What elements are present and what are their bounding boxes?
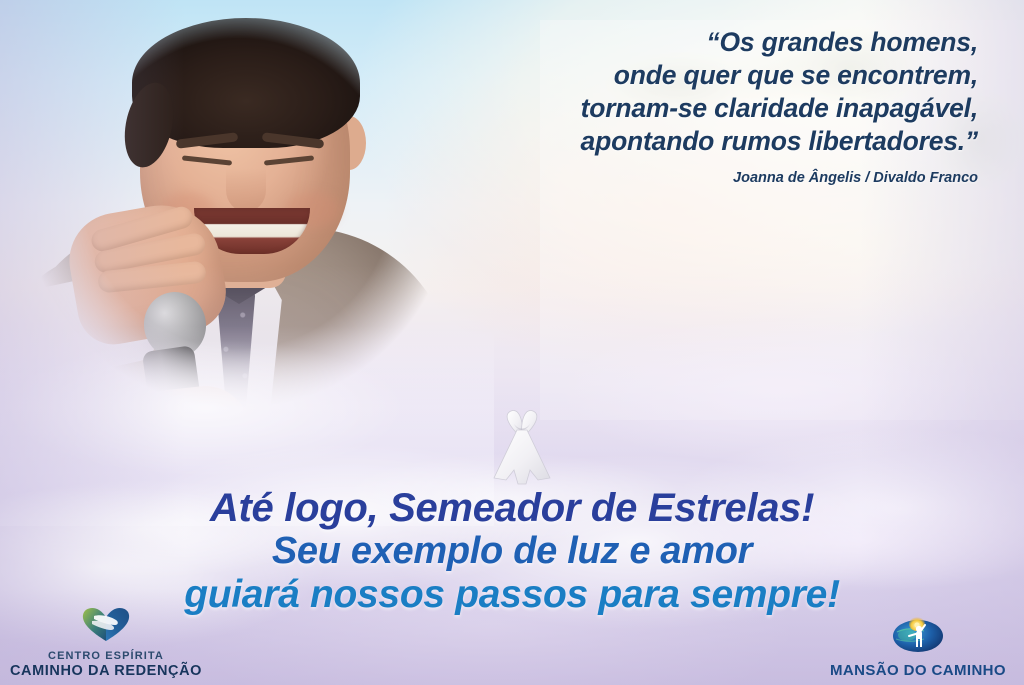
globe-figure-torch-icon xyxy=(818,614,1018,659)
logo-mansao-do-caminho: MANSÃO DO CAMINHO xyxy=(818,614,1018,679)
quote-line-4: apontando rumos libertadores.” xyxy=(458,125,978,158)
heart-hands-icon xyxy=(6,606,206,647)
quote-line-1: “Os grandes homens, xyxy=(458,26,978,59)
memorial-poster: “Os grandes homens, onde quer que se enc… xyxy=(0,0,1024,685)
logo-left-line-1: CENTRO ESPÍRITA xyxy=(6,650,206,663)
quote-line-3: tornam-se claridade inapagável, xyxy=(458,92,978,125)
nose xyxy=(226,168,266,212)
white-memorial-ribbon xyxy=(484,408,560,488)
ribbon-icon xyxy=(484,408,560,488)
logo-right-line-1: MANSÃO DO CAMINHO xyxy=(818,662,1018,679)
headline-line-2: Seu exemplo de luz e amor xyxy=(0,530,1024,573)
quote-text: “Os grandes homens, onde quer que se enc… xyxy=(458,26,978,158)
logo-centro-espirita: CENTRO ESPÍRITA CAMINHO DA REDENÇÃO xyxy=(6,606,206,679)
logo-left-line-2: CAMINHO DA REDENÇÃO xyxy=(6,663,206,679)
hair xyxy=(132,18,360,148)
quote-line-2: onde quer que se encontrem, xyxy=(458,59,978,92)
headline-line-1: Até logo, Semeador de Estrelas! xyxy=(0,486,1024,530)
headline-text: Até logo, Semeador de Estrelas! Seu exem… xyxy=(0,486,1024,617)
quote-attribution: Joanna de Ângelis / Divaldo Franco xyxy=(458,170,978,186)
